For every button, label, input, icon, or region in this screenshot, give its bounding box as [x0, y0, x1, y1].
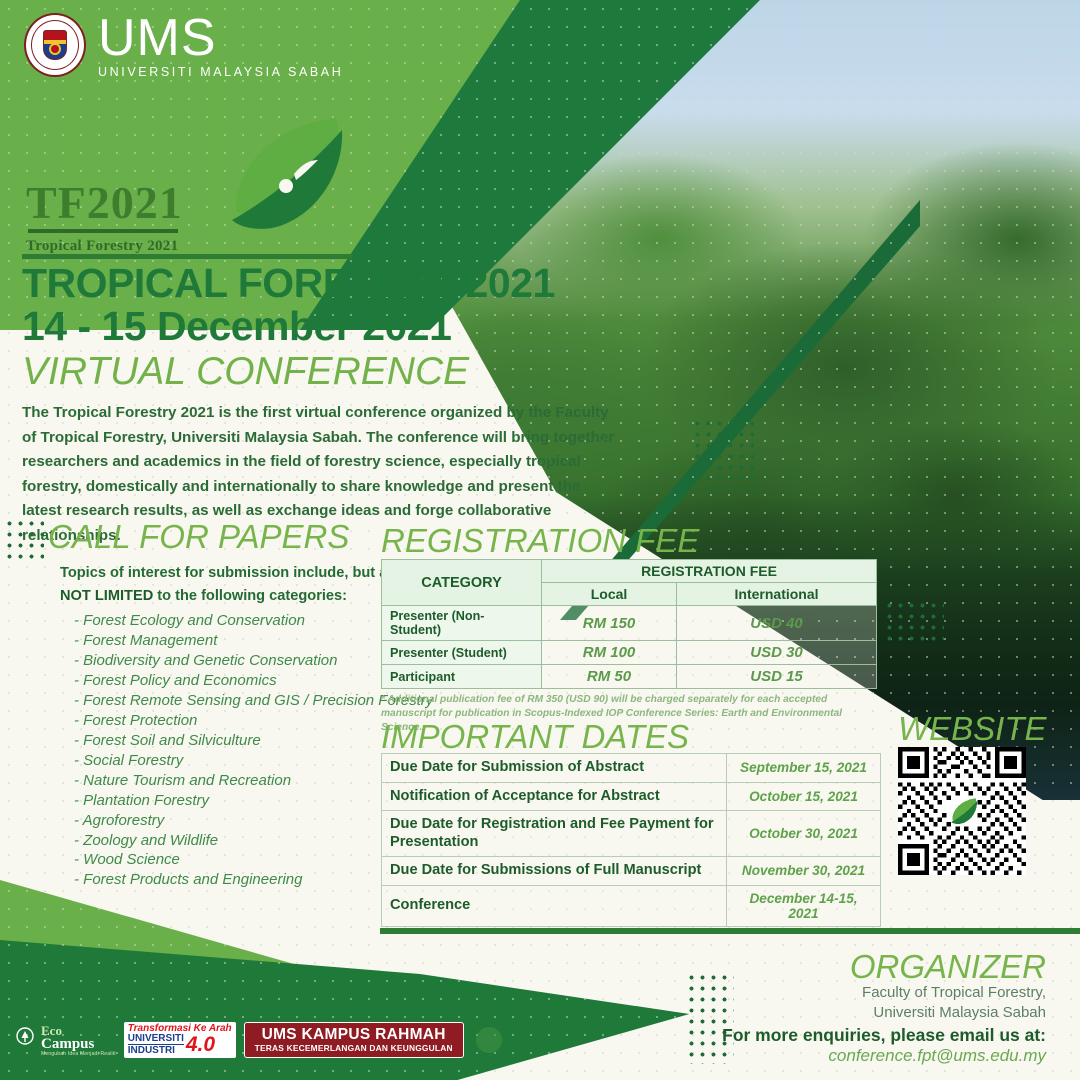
list-item: - Forest Management: [74, 631, 398, 651]
contact-email[interactable]: conference.fpt@ums.edu.my: [626, 1046, 1046, 1066]
table-row: Notification of Acceptance for Abstract …: [382, 782, 881, 811]
table-row: Conference December 14-15, 2021: [382, 885, 881, 926]
rahmah-line-1: UMS KAMPUS RAHMAH: [255, 1027, 453, 1043]
cfp-intro-part2: to the following categories:: [153, 588, 347, 604]
cell-date: October 30, 2021: [727, 811, 881, 857]
cfp-intro-emphasis: NOT LIMITED: [60, 588, 153, 604]
cell-category: Presenter (Non-Student): [382, 606, 542, 641]
cell-local-fee: RM 50: [542, 665, 677, 689]
cell-milestone: Due Date for Submission of Abstract: [382, 754, 727, 783]
organizer-rule: [380, 928, 1080, 934]
tf2021-expansion: Tropical Forestry 2021: [26, 238, 183, 255]
organizer-heading: ORGANIZER: [626, 950, 1046, 983]
column-header-local: Local: [542, 583, 677, 606]
ums-wordmark-subtitle: UNIVERSITI MALAYSIA SABAH: [98, 66, 343, 79]
conference-dates: 14 - 15 December 2021: [22, 305, 642, 348]
important-dates-table: Due Date for Submission of Abstract Sept…: [381, 753, 881, 927]
cell-milestone: Due Date for Registration and Fee Paymen…: [382, 811, 727, 857]
important-dates-heading: IMPORTANT DATES: [381, 720, 881, 753]
list-item: - Forest Protection: [74, 711, 398, 731]
list-item: - Biodiversity and Genetic Conservation: [74, 651, 398, 671]
column-header-international: International: [677, 583, 877, 606]
dot-matrix-decoration: [884, 600, 944, 645]
eco-campus-tagline: Mengubah Idea Menjadi Realiti: [41, 1052, 116, 1057]
rahmah-line-2: TERAS KECEMERLANGAN DAN KEUNGGULAN: [255, 1044, 453, 1053]
table-row: Presenter (Student) RM 100 USD 30: [382, 641, 877, 665]
call-for-papers-heading: CALL FOR PAPERS: [48, 520, 398, 553]
list-item: - Plantation Forestry: [74, 791, 398, 811]
website-heading: WEBSITE: [898, 712, 1047, 745]
list-item: - Social Forestry: [74, 751, 398, 771]
ums-wordmark: UMS: [98, 12, 343, 64]
cell-category: Participant: [382, 665, 542, 689]
table-row: Due Date for Registration and Fee Paymen…: [382, 811, 881, 857]
table-row: Participant RM 50 USD 15: [382, 665, 877, 689]
ums-kampus-rahmah-badge: UMS KAMPUS RAHMAH TERAS KECEMERLANGAN DA…: [244, 1022, 464, 1057]
eco-campus-tree-icon: [16, 1027, 38, 1053]
transformasi-number: 4.0: [186, 1037, 215, 1054]
leaf-logo-icon: [216, 108, 356, 248]
ums-logo: UMS UNIVERSITI MALAYSIA SABAH: [24, 12, 343, 79]
transformasi-4-0-logo: Transformasi Ke Arah UNIVERSITI INDUSTRI…: [124, 1022, 236, 1058]
topics-list: - Forest Ecology and Conservation - Fore…: [74, 611, 398, 890]
table-row: Presenter (Non-Student) RM 150 USD 40: [382, 606, 877, 641]
column-header-category: CATEGORY: [382, 560, 542, 606]
page-title: TROPICAL FORESTRY 2021: [22, 262, 642, 305]
conference-mode: VIRTUAL CONFERENCE: [22, 350, 642, 395]
organizer-line-1: Faculty of Tropical Forestry,: [626, 983, 1046, 1003]
list-item: - Agroforestry: [74, 811, 398, 831]
tf2021-lockup: TF2021 Tropical Forestry 2021: [26, 180, 183, 255]
ums-crest-icon: [24, 13, 86, 77]
call-for-papers-intro: Topics of interest for submission includ…: [60, 562, 405, 607]
cell-date: September 15, 2021: [727, 754, 881, 783]
cell-milestone: Due Date for Submissions of Full Manuscr…: [382, 857, 727, 886]
cell-milestone: Conference: [382, 885, 727, 926]
cell-date: December 14-15, 2021: [727, 885, 881, 926]
list-item: - Zoology and Wildlife: [74, 831, 398, 851]
registration-fee-table: CATEGORY REGISTRATION FEE Local Internat…: [381, 559, 877, 689]
call-for-papers-section: CALL FOR PAPERS Topics of interest for s…: [48, 520, 398, 890]
table-row: Due Date for Submission of Abstract Sept…: [382, 754, 881, 783]
organizer-section: ORGANIZER Faculty of Tropical Forestry, …: [626, 950, 1046, 1066]
transformasi-line-3: INDUSTRI: [128, 1046, 184, 1056]
cell-date: November 30, 2021: [727, 857, 881, 886]
headline-block: TROPICAL FORESTRY 2021 14 - 15 December …: [22, 262, 642, 549]
enquiry-label: For more enquiries, please email us at:: [626, 1025, 1046, 1046]
list-item: - Forest Remote Sensing and GIS / Precis…: [74, 691, 398, 711]
footer-logo-strip: Eco Campus Mengubah Idea Menjadi Realiti…: [16, 1022, 502, 1058]
organizer-line-2: Universiti Malaysia Sabah: [626, 1003, 1046, 1023]
cell-date: October 15, 2021: [727, 782, 881, 811]
cell-local-fee: RM 150: [542, 606, 677, 641]
lockup-rule: [28, 229, 178, 233]
registration-fee-section: REGISTRATION FEE CATEGORY REGISTRATION F…: [381, 524, 877, 734]
qr-code-icon[interactable]: [898, 747, 1026, 875]
column-header-group: REGISTRATION FEE: [542, 560, 877, 583]
website-section: WEBSITE: [898, 712, 1047, 875]
transformasi-line-2: UNIVERSITI: [128, 1034, 184, 1045]
list-item: - Forest Ecology and Conservation: [74, 611, 398, 631]
list-item: - Nature Tourism and Recreation: [74, 771, 398, 791]
list-item: - Forest Policy and Economics: [74, 671, 398, 691]
eco-campus-logo: Eco Campus Mengubah Idea Menjadi Realiti: [16, 1024, 116, 1057]
cell-local-fee: RM 100: [542, 641, 677, 665]
cfp-intro-part1: Topics of interest for submission includ…: [60, 565, 401, 581]
cell-category: Presenter (Student): [382, 641, 542, 665]
eco-campus-line-2: Campus: [41, 1037, 116, 1052]
conference-poster: UMS UNIVERSITI MALAYSIA SABAH TF2021 Tro…: [0, 0, 1080, 1080]
list-item: - Forest Products and Engineering: [74, 870, 398, 890]
headline-top-rule: [22, 254, 352, 259]
eco-campus-line-1: Eco: [41, 1024, 116, 1037]
dot-matrix-decoration: [692, 418, 754, 496]
cell-milestone: Notification of Acceptance for Abstract: [382, 782, 727, 811]
globe-icon: [476, 1027, 502, 1053]
cell-international-fee: USD 40: [677, 606, 877, 641]
tf2021-acronym: TF2021: [26, 180, 183, 226]
cell-international-fee: USD 15: [677, 665, 877, 689]
registration-fee-heading: REGISTRATION FEE: [381, 524, 877, 557]
list-item: - Wood Science: [74, 850, 398, 870]
table-row: Due Date for Submissions of Full Manuscr…: [382, 857, 881, 886]
list-item: - Forest Soil and Silviculture: [74, 731, 398, 751]
important-dates-section: IMPORTANT DATES Due Date for Submission …: [381, 720, 881, 927]
cell-international-fee: USD 30: [677, 641, 877, 665]
